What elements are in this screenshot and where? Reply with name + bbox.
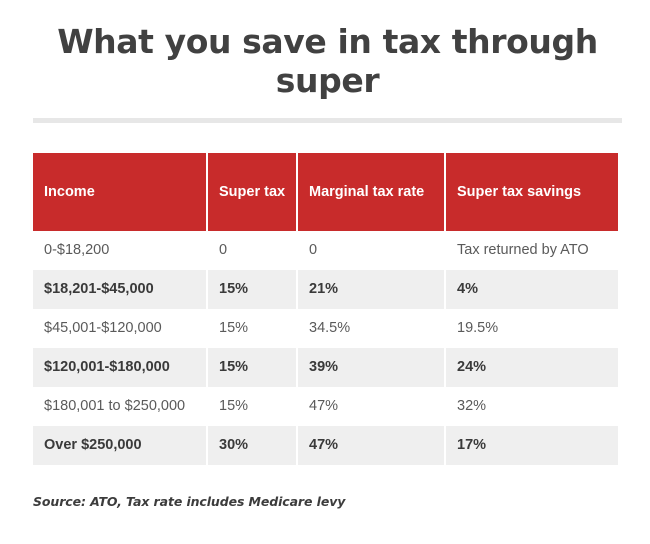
infographic-page: What you save in tax through super Incom… <box>0 0 650 544</box>
table-header-row: Income Super tax Marginal tax rate Super… <box>33 153 618 231</box>
table-row: Over $250,000 30% 47% 17% <box>33 426 618 465</box>
cell-super-tax-savings: 17% <box>446 426 618 465</box>
cell-super-tax-savings: Tax returned by ATO <box>446 231 618 270</box>
cell-marginal-tax-rate: 21% <box>298 270 446 309</box>
cell-super-tax: 15% <box>208 348 298 387</box>
cell-marginal-tax-rate: 39% <box>298 348 446 387</box>
cell-super-tax-savings: 32% <box>446 387 618 426</box>
cell-super-tax: 15% <box>208 270 298 309</box>
cell-super-tax: 0 <box>208 231 298 270</box>
title-divider <box>33 118 622 123</box>
table-row: $120,001-$180,000 15% 39% 24% <box>33 348 618 387</box>
cell-super-tax-savings: 19.5% <box>446 309 618 348</box>
column-header-super-tax-savings: Super tax savings <box>446 153 618 231</box>
cell-income: Over $250,000 <box>33 426 208 465</box>
source-note: Source: ATO, Tax rate includes Medicare … <box>33 494 345 510</box>
cell-income: $18,201-$45,000 <box>33 270 208 309</box>
title-container: What you save in tax through super <box>33 22 622 100</box>
column-header-income: Income <box>33 153 208 231</box>
column-header-marginal-tax-rate: Marginal tax rate <box>298 153 446 231</box>
cell-super-tax-savings: 4% <box>446 270 618 309</box>
table-header: Income Super tax Marginal tax rate Super… <box>33 153 618 231</box>
table-row: $45,001-$120,000 15% 34.5% 19.5% <box>33 309 618 348</box>
cell-super-tax: 15% <box>208 387 298 426</box>
cell-income: $180,001 to $250,000 <box>33 387 208 426</box>
tax-savings-table: Income Super tax Marginal tax rate Super… <box>33 153 618 465</box>
table-row: $180,001 to $250,000 15% 47% 32% <box>33 387 618 426</box>
cell-marginal-tax-rate: 47% <box>298 387 446 426</box>
table-body: 0-$18,200 0 0 Tax returned by ATO $18,20… <box>33 231 618 465</box>
cell-marginal-tax-rate: 34.5% <box>298 309 446 348</box>
cell-income: $45,001-$120,000 <box>33 309 208 348</box>
table-row: $18,201-$45,000 15% 21% 4% <box>33 270 618 309</box>
column-header-super-tax: Super tax <box>208 153 298 231</box>
cell-super-tax: 30% <box>208 426 298 465</box>
cell-income: $120,001-$180,000 <box>33 348 208 387</box>
cell-super-tax-savings: 24% <box>446 348 618 387</box>
table-row: 0-$18,200 0 0 Tax returned by ATO <box>33 231 618 270</box>
cell-marginal-tax-rate: 47% <box>298 426 446 465</box>
cell-super-tax: 15% <box>208 309 298 348</box>
cell-income: 0-$18,200 <box>33 231 208 270</box>
cell-marginal-tax-rate: 0 <box>298 231 446 270</box>
page-title: What you save in tax through super <box>33 22 622 100</box>
